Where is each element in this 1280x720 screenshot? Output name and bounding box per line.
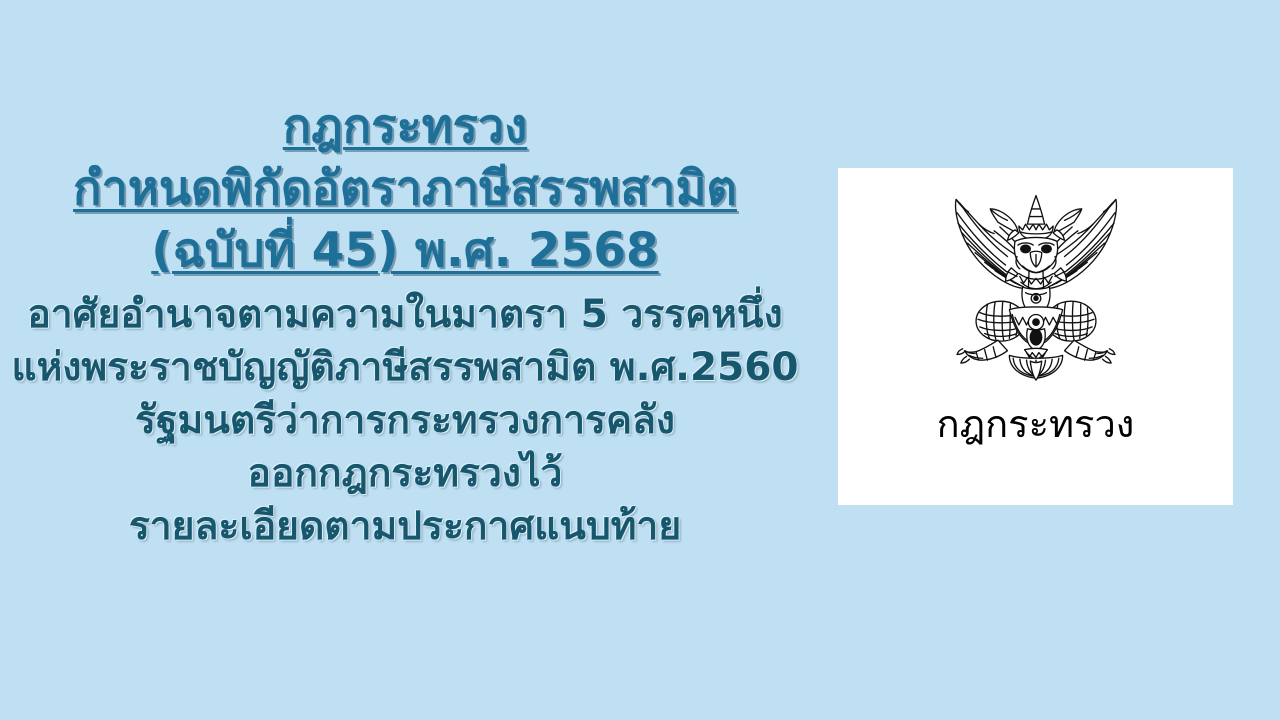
body-line-4: ออกกฎกระทรวงไว้ (0, 447, 810, 500)
body-line-5: รายละเอียดตามประกาศแนบท้าย (0, 500, 810, 553)
slide-canvas: กฎกระทรวง กำหนดพิกัดอัตราภาษีสรรพสามิต (… (0, 0, 1280, 720)
garuda-emblem-icon (931, 188, 1141, 383)
body-line-2: แห่งพระราชบัญญัติภาษีสรรพสามิต พ.ศ.2560 (0, 341, 810, 394)
emblem-caption: กฎกระทรวง (937, 401, 1135, 447)
page-title: กฎกระทรวง กำหนดพิกัดอัตราภาษีสรรพสามิต (… (0, 96, 810, 282)
title-line-2: กำหนดพิกัดอัตราภาษีสรรพสามิต (0, 158, 810, 220)
title-line-1: กฎกระทรวง (0, 96, 810, 158)
title-line-3: (ฉบับที่ 45) พ.ศ. 2568 (0, 220, 810, 282)
emblem-card: กฎกระทรวง (838, 168, 1233, 505)
body-line-3: รัฐมนตรีว่าการกระทรวงการคลัง (0, 394, 810, 447)
body-text: อาศัยอำนาจตามความในมาตรา 5 วรรคหนึ่ง แห่… (0, 288, 810, 553)
text-block: กฎกระทรวง กำหนดพิกัดอัตราภาษีสรรพสามิต (… (0, 96, 810, 553)
body-line-1: อาศัยอำนาจตามความในมาตรา 5 วรรคหนึ่ง (0, 288, 810, 341)
